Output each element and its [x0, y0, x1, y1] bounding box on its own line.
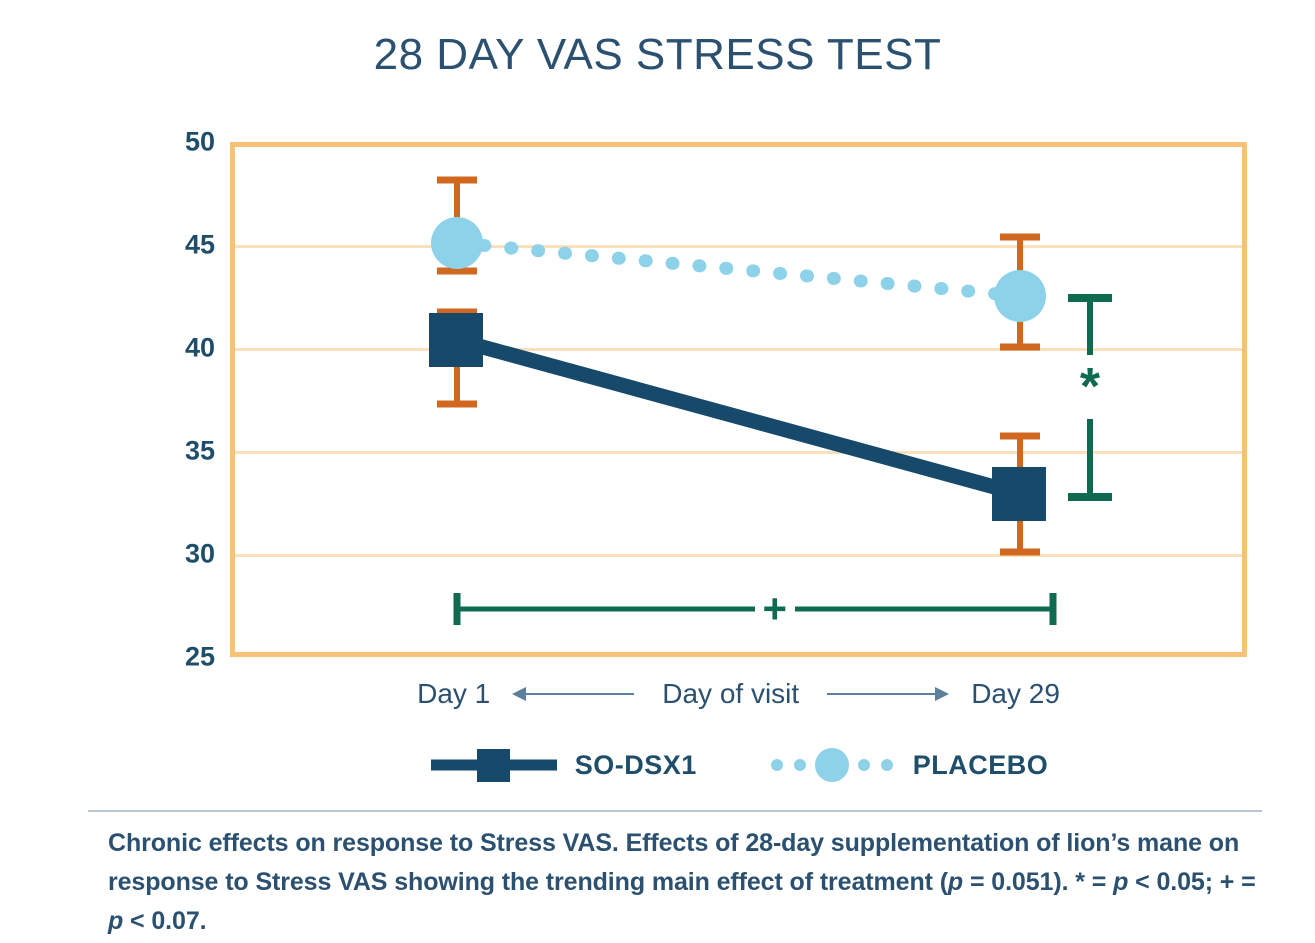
- legend-label-placebo: PLACEBO: [913, 750, 1049, 781]
- datapoint-treatment-day1: [429, 313, 483, 367]
- datapoint-placebo-day29: [994, 270, 1046, 322]
- caption-line-1: Chronic effects on response to Stress VA…: [108, 829, 1029, 857]
- legend-item-placebo[interactable]: PLACEBO: [767, 745, 1049, 785]
- x-axis-labels: Day 1 Day of visit Day 29: [230, 672, 1247, 716]
- y-tick-40: 40: [145, 335, 215, 362]
- y-tick-50: 50: [145, 129, 215, 156]
- legend-item-treatment[interactable]: SO-DSX1: [429, 745, 697, 785]
- arrow-left-icon: [512, 684, 640, 704]
- caption-line-3c: < 0.05; + =: [1128, 868, 1255, 896]
- figure-caption: Chronic effects on response to Stress VA…: [108, 824, 1266, 941]
- datapoint-placebo-day1: [431, 217, 483, 269]
- y-tick-30: 30: [145, 541, 215, 568]
- plot-svg: [235, 147, 1242, 652]
- caption-line-3a: treatment (: [820, 868, 948, 896]
- datapoint-treatment-day29: [992, 467, 1046, 521]
- legend-swatch-circle-dotted-icon: [767, 745, 897, 785]
- legend-label-treatment: SO-DSX1: [575, 750, 697, 781]
- plot-area: * +: [230, 142, 1247, 657]
- y-tick-25: 25: [145, 644, 215, 671]
- y-tick-45: 45: [145, 232, 215, 259]
- x-axis-label-center: Day of visit: [662, 678, 799, 710]
- chart-figure: 28 DAY VAS STRESS TEST Baseline Stress V…: [0, 0, 1315, 943]
- arrow-right-icon: [821, 684, 949, 704]
- significance-bracket-horizontal: [457, 593, 1053, 625]
- caption-p-italic-2: p: [1113, 868, 1128, 896]
- caption-divider: [88, 810, 1262, 812]
- treatment-line: [457, 340, 1020, 494]
- x-axis-label-left: Day 1: [417, 678, 490, 710]
- chart-legend: SO-DSX1 PLACEBO: [230, 740, 1247, 790]
- caption-p-italic-1: p: [948, 868, 963, 896]
- caption-p-italic-3: p: [108, 907, 123, 935]
- y-axis-ticks: 50 45 40 35 30 25: [145, 0, 215, 943]
- caption-line-3d: < 0.07.: [123, 907, 206, 935]
- placebo-line: [457, 243, 1020, 296]
- x-axis-label-right: Day 29: [971, 678, 1060, 710]
- caption-line-3b: = 0.051). * =: [963, 868, 1113, 896]
- y-tick-35: 35: [145, 438, 215, 465]
- legend-swatch-square-line-icon: [429, 745, 559, 785]
- significance-bracket-vertical: [1068, 298, 1112, 497]
